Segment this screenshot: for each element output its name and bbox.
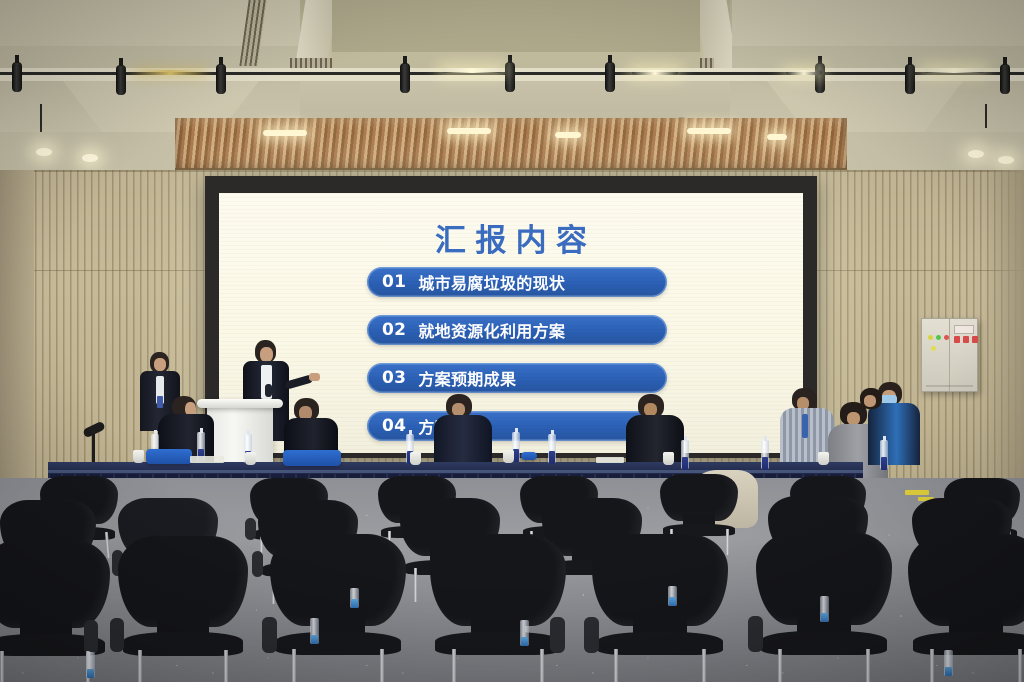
panel-button[interactable] [963, 336, 969, 343]
paper-cup [245, 452, 256, 465]
spotlight-icon [605, 62, 615, 92]
chair [908, 534, 1024, 682]
agenda-item-01: 01 城市易腐垃圾的现状 [367, 267, 667, 297]
blue-conference-bag [146, 449, 192, 464]
chair [118, 536, 248, 682]
downlight-icon [36, 148, 52, 156]
chair [430, 534, 566, 682]
water-bottle [944, 650, 953, 676]
water-bottle [761, 440, 769, 470]
microphone-stand [92, 430, 95, 464]
chair [270, 534, 406, 682]
spotlight-icon [216, 64, 226, 94]
agenda-number: 02 [382, 320, 406, 340]
water-bottle [350, 588, 359, 608]
blue-conference-bag [283, 450, 341, 466]
water-bottle [548, 434, 556, 464]
agenda-item-02: 02 就地资源化利用方案 [367, 315, 667, 345]
agenda-label: 城市易腐垃圾的现状 [418, 270, 565, 294]
water-bottle [820, 596, 829, 622]
agenda-label: 方案预期成果 [418, 366, 516, 390]
agenda-number: 04 [382, 416, 406, 436]
water-bottle [310, 618, 319, 644]
wall-control-panel[interactable] [921, 318, 978, 392]
paper-cup [663, 452, 674, 465]
document-paper [596, 457, 624, 463]
downlight-icon [998, 156, 1014, 164]
paper-cup [133, 450, 144, 463]
paper-cup [503, 450, 514, 463]
spotlight-icon [815, 63, 825, 93]
spotlight-icon [400, 63, 410, 93]
agenda-number: 01 [382, 272, 406, 292]
conference-hall-photo: 汇报内容 01 城市易腐垃圾的现状 02 就地资源化利用方案 03 方案预期成果… [0, 0, 1024, 682]
paper-cup [410, 452, 421, 465]
panel-button[interactable] [972, 336, 978, 343]
spotlight-icon [12, 62, 22, 92]
agenda-label: 就地资源化利用方案 [418, 318, 565, 342]
water-bottle [520, 620, 529, 646]
blue-conference-bag [521, 452, 537, 460]
agenda-number: 03 [382, 368, 406, 388]
downlight-icon [968, 150, 984, 158]
spotlight-icon [116, 65, 126, 95]
document-paper [190, 456, 224, 463]
water-bottle [681, 440, 689, 470]
panel-button[interactable] [954, 336, 960, 343]
spotlight-icon [905, 64, 915, 94]
downlight-icon [82, 154, 98, 162]
floor-marker [905, 490, 929, 495]
water-bottle [880, 440, 888, 470]
paper-cup [818, 452, 829, 465]
chair [592, 534, 728, 682]
slide-agenda-list: 01 城市易腐垃圾的现状 02 就地资源化利用方案 03 方案预期成果 04 方… [367, 267, 667, 453]
water-bottle [86, 652, 95, 678]
spotlight-icon [1000, 64, 1010, 94]
water-bottle [668, 586, 677, 606]
podium-top [197, 399, 283, 408]
slide-title: 汇报内容 [219, 215, 803, 260]
agenda-item-03: 03 方案预期成果 [367, 363, 667, 393]
spotlight-icon [505, 62, 515, 92]
